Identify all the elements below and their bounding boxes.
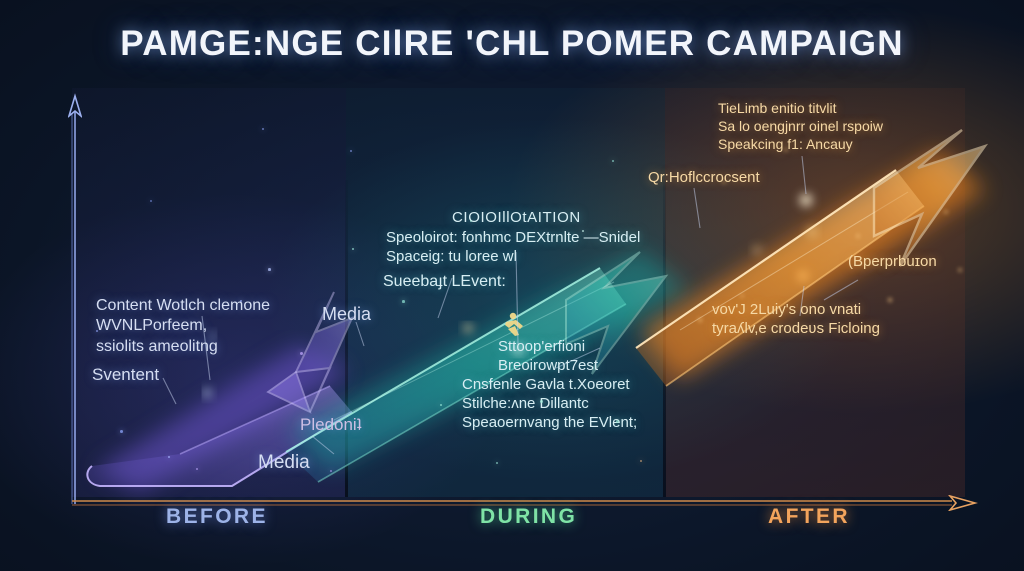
stage-label-before: BEFORE — [166, 505, 268, 529]
vertical-growth-axis — [68, 92, 82, 507]
page-title: PAMGE:NGE CIlRE 'CHL POMER CAMPAIGN — [0, 24, 1024, 64]
stage-label-during: DURING — [480, 505, 577, 529]
stage-label-after: AFTER — [768, 505, 850, 529]
growth-arrow-artwork — [0, 0, 1024, 571]
infographic-canvas: PAMGE:NGE CIlRE 'CHL POMER CAMPAIGN Cont… — [0, 0, 1024, 571]
